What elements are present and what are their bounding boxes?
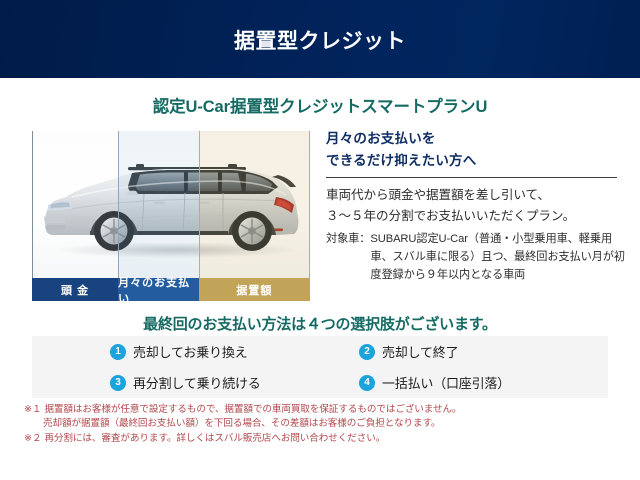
- car-payment-breakdown-figure: 頭 金 月々のお支払い 据置額: [32, 131, 310, 301]
- band-divider-left: [32, 131, 33, 278]
- footnote-1-row-2: 売却額が据置額（最終回お支払い額）を下回る場合、その差額はお客様のご負担となりま…: [24, 417, 624, 431]
- footnote-2-mark: ※２: [24, 432, 44, 446]
- band-deferred-amount: [199, 131, 310, 278]
- option-3[interactable]: 3 再分割して乗り続ける: [110, 373, 359, 392]
- plan-body-line-1: 車両代から頭金や据置額を差し引いて、: [326, 185, 626, 206]
- option-1-label: 売却してお乗り換え: [133, 342, 247, 361]
- footnote-1-line-2: 売却額が据置額（最終回お支払い額）を下回る場合、その差額はお客様のご負担となりま…: [43, 418, 441, 429]
- plan-description: 月々のお支払いを できるだけ抑えたい方へ 車両代から頭金や据置額を差し引いて、 …: [326, 128, 626, 284]
- payment-segment-labels: 頭 金 月々のお支払い 据置額: [32, 278, 310, 301]
- option-2[interactable]: 2 売却して終了: [359, 342, 608, 361]
- credit-plan-infographic: 据置型クレジット 認定U-Car据置型クレジットスマートプランU: [0, 0, 640, 480]
- band-down-payment: [32, 131, 118, 278]
- option-4-label: 一括払い（口座引落）: [382, 373, 510, 392]
- option-3-label: 再分割して乗り続ける: [133, 373, 261, 392]
- band-monthly-payment: [118, 131, 199, 278]
- plan-heading: 月々のお支払いを できるだけ抑えたい方へ: [326, 128, 626, 172]
- eligible-vehicles-label: 対象車：: [326, 230, 370, 284]
- plan-body-line-2: ３～５年の分割でお支払いいただくプラン。: [326, 206, 626, 227]
- option-3-number-badge: 3: [110, 375, 126, 391]
- footnote-1-row-1: ※１ 据置額はお客様が任意で設定するもので、据置額での車両買取を保証するものでは…: [24, 403, 624, 417]
- car-photo: [32, 131, 310, 278]
- final-payment-headline: 最終回のお支払い方法は４つの選択肢がございます。: [0, 313, 640, 334]
- plan-heading-line-1: 月々のお支払いを: [326, 128, 626, 150]
- footnote-1-line-1: 据置額はお客様が任意で設定するもので、据置額での車両買取を保証するものではござい…: [44, 403, 461, 417]
- plan-body-text: 車両代から頭金や据置額を差し引いて、 ３～５年の分割でお支払いいただくプラン。: [326, 185, 626, 227]
- page-title: 据置型クレジット: [234, 27, 406, 52]
- option-4[interactable]: 4 一括払い（口座引落）: [359, 373, 608, 392]
- footnotes: ※１ 据置額はお客様が任意で設定するもので、据置額での車両買取を保証するものでは…: [24, 403, 624, 447]
- heading-divider: [326, 177, 617, 178]
- band-divider-mid: [118, 131, 119, 278]
- footnote-1-mark: ※１: [24, 403, 44, 417]
- eligible-vehicles: 対象車： SUBARU認定U-Car（普通・小型乗用車、軽乗用車、スバル車に限る…: [326, 230, 626, 284]
- final-payment-options-panel: 1 売却してお乗り換え 2 売却して終了 3 再分割して乗り続ける 4 一括払い…: [32, 336, 608, 398]
- page-header: 据置型クレジット: [0, 0, 640, 78]
- plan-heading-line-2: できるだけ抑えたい方へ: [326, 150, 626, 172]
- option-1-number-badge: 1: [110, 344, 126, 360]
- eligible-vehicles-text: SUBARU認定U-Car（普通・小型乗用車、軽乗用車、スバル車に限る）且つ、最…: [370, 230, 626, 284]
- segment-label-down-payment: 頭 金: [32, 278, 118, 301]
- band-divider-end: [309, 131, 310, 278]
- option-2-label: 売却して終了: [382, 342, 458, 361]
- footnote-2-line-1: 再分割には、審査があります。詳しくはスバル販売店へお問い合わせください。: [44, 432, 385, 446]
- option-2-number-badge: 2: [359, 344, 375, 360]
- segment-label-deferred-amount: 据置額: [199, 278, 310, 301]
- footnote-2-row-1: ※２ 再分割には、審査があります。詳しくはスバル販売店へお問い合わせください。: [24, 432, 624, 446]
- option-1[interactable]: 1 売却してお乗り換え: [110, 342, 359, 361]
- band-divider-right: [199, 131, 200, 278]
- plan-subtitle: 認定U-Car据置型クレジットスマートプランU: [0, 93, 640, 117]
- option-4-number-badge: 4: [359, 375, 375, 391]
- segment-label-monthly-payment: 月々のお支払い: [118, 278, 199, 301]
